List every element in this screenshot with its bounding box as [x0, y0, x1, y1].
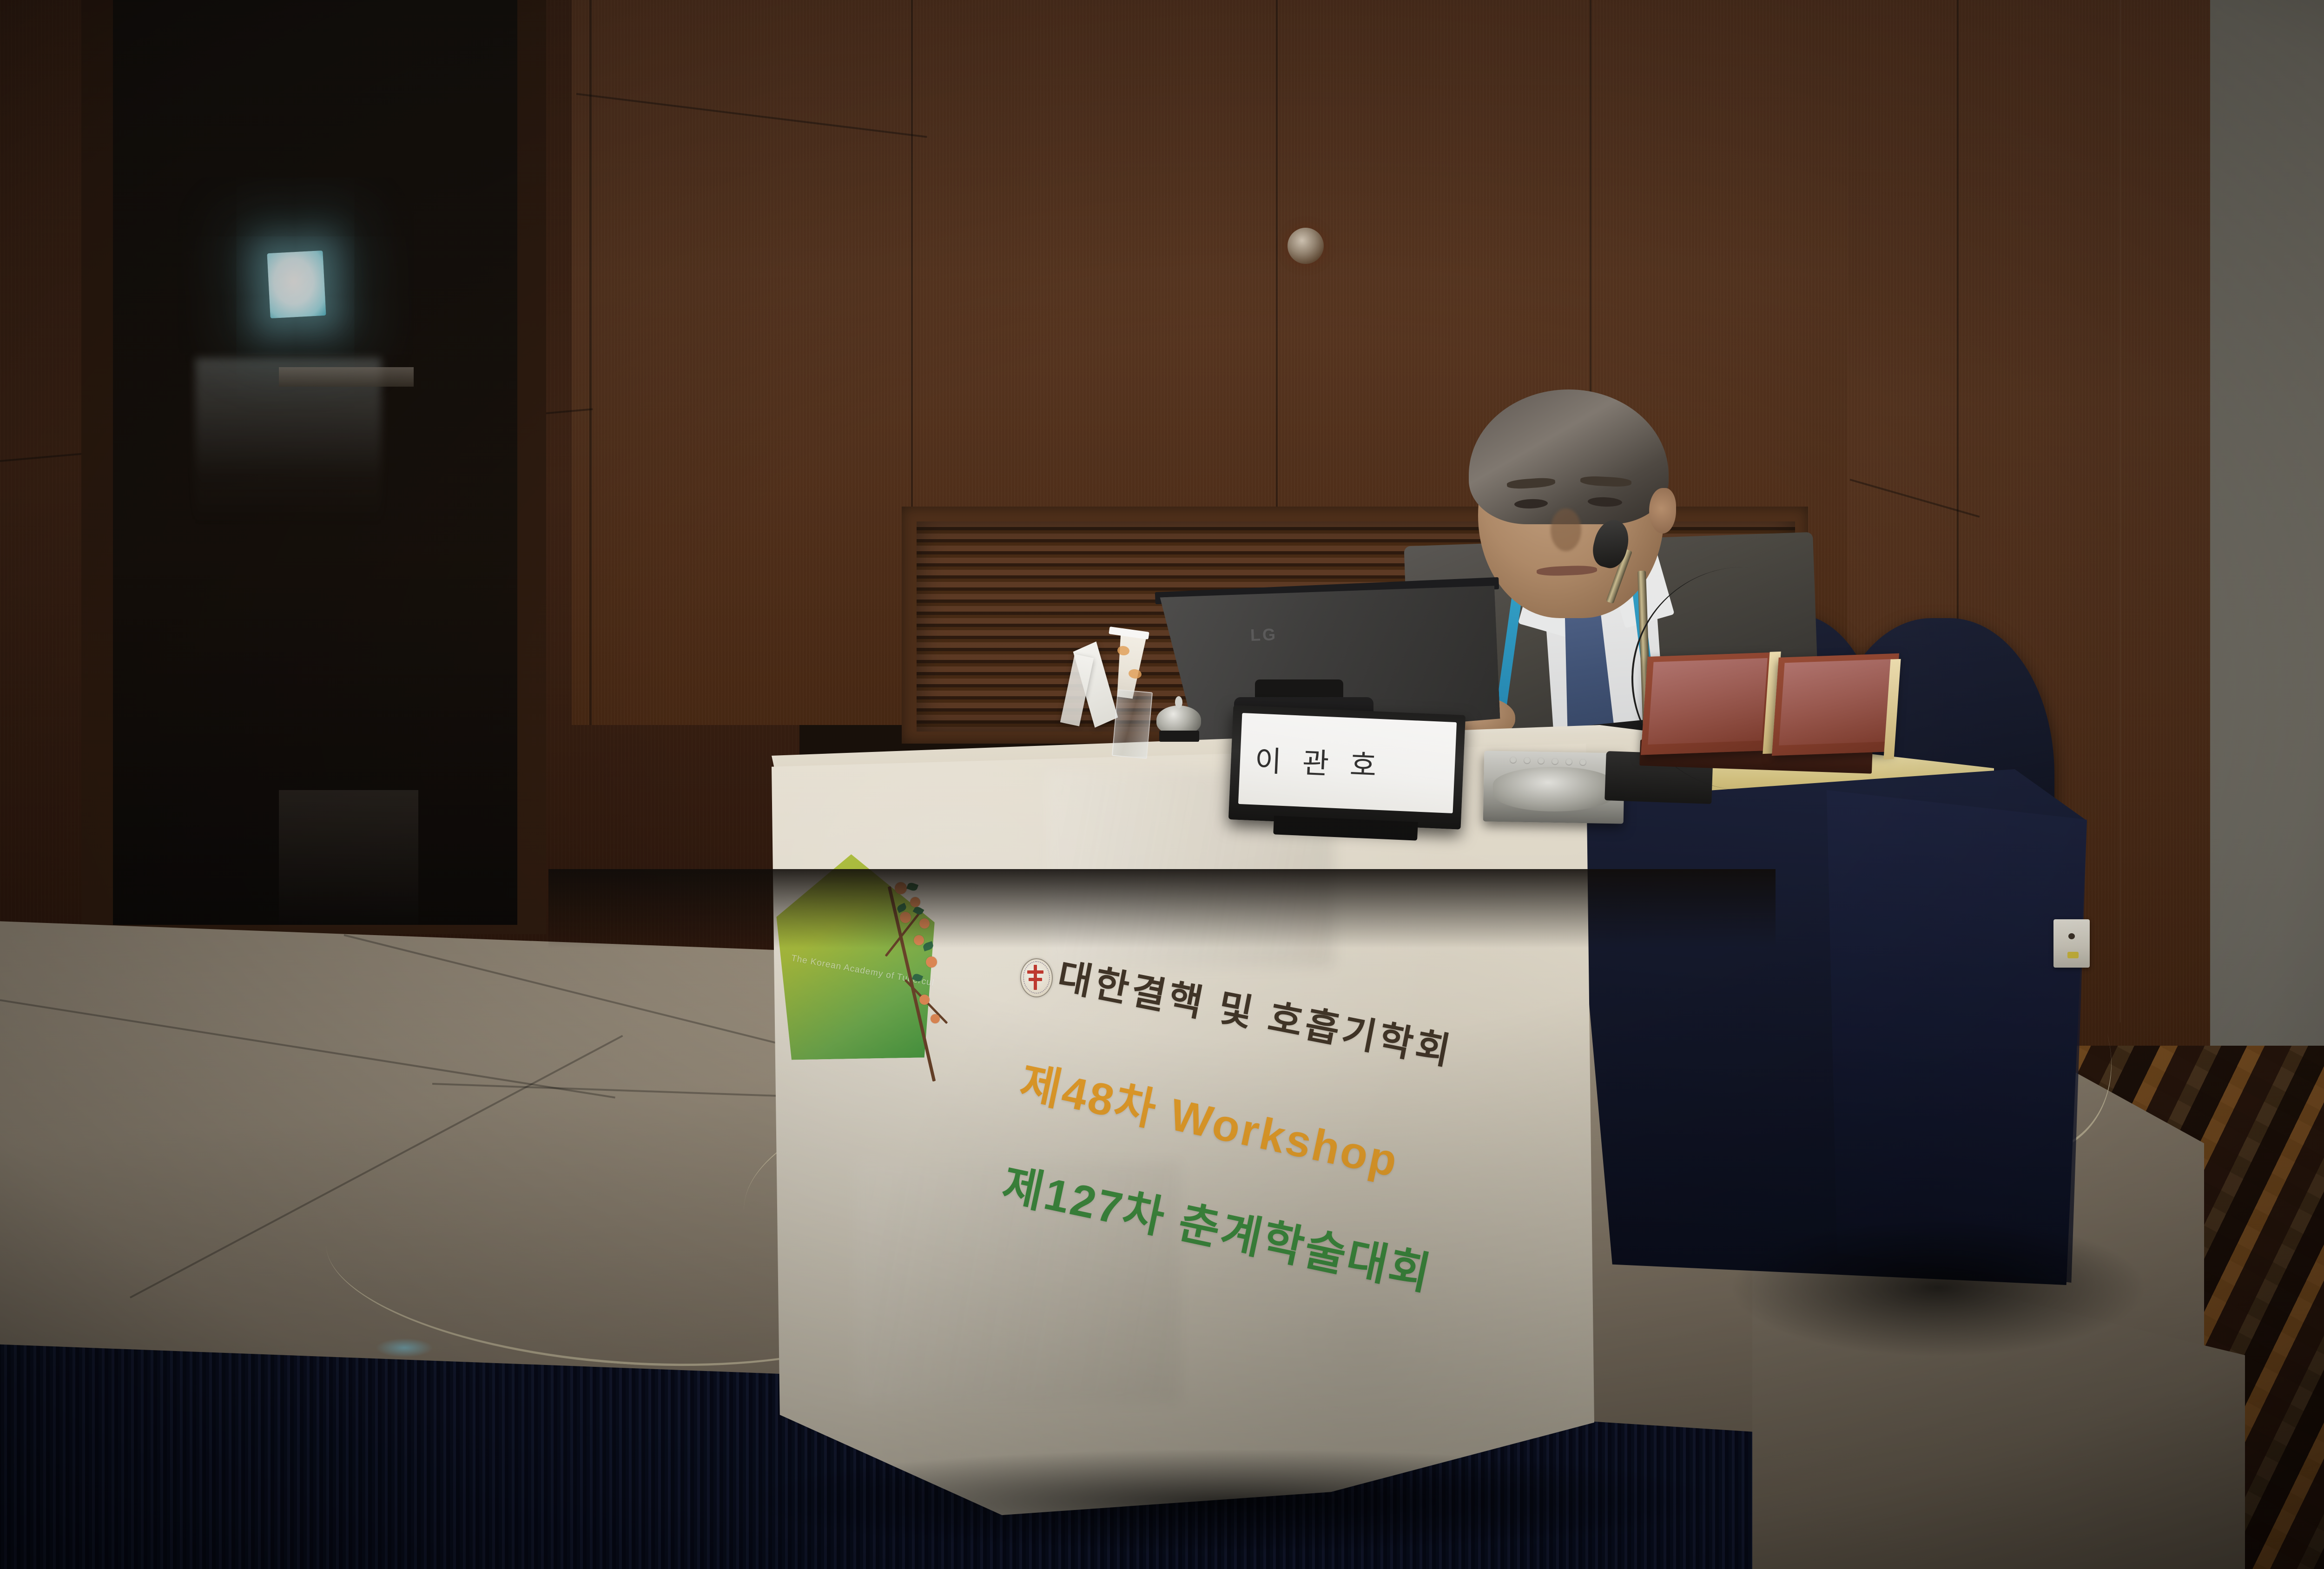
society-emblem-cross-bar-lower: [1029, 978, 1042, 981]
conference-unit-button[interactable]: [1552, 758, 1558, 765]
society-emblem-cross-bar-upper: [1027, 970, 1043, 974]
conference-unit-button[interactable]: [1524, 757, 1531, 764]
service-bell: [1156, 705, 1201, 734]
chair-shadow: [1729, 1218, 2147, 1357]
service-bell-base: [1159, 731, 1199, 742]
wall-highlight: [2119, 0, 2121, 1022]
wall-outlet-plug: [2067, 952, 2079, 958]
wall-outlet-hole: [2068, 933, 2075, 939]
ceiling-sprinkler-head-icon: [1287, 228, 1324, 264]
name-placard-text: 이 관 호: [1254, 737, 1384, 784]
award-plaque-right-face: [1779, 659, 1892, 745]
illuminated-wall-light-icon: [267, 251, 326, 318]
person-nose: [1551, 508, 1581, 551]
conference-unit-button[interactable]: [1510, 757, 1517, 764]
conference-speaker-grille: [1493, 767, 1616, 811]
wall-seam: [911, 0, 913, 572]
society-emblem-cross-vertical: [1034, 965, 1037, 990]
doorway-inner-shelf: [279, 367, 414, 387]
wall-column-right: [2210, 0, 2324, 1157]
conference-unit-button[interactable]: [1565, 758, 1572, 765]
drinking-glass: [1112, 689, 1153, 759]
wall-power-outlet: [2053, 919, 2090, 968]
conference-unit-button[interactable]: [1579, 759, 1586, 766]
wall-seam: [1276, 0, 1278, 511]
award-plaque-left-face: [1648, 658, 1768, 745]
table-skirt-right-fold: [1827, 790, 2087, 1283]
blossom-flower: [926, 956, 937, 968]
doorway-lower-glow: [279, 790, 418, 930]
blossom-flower: [919, 995, 930, 1005]
monitor-brand-logo: LG: [1250, 625, 1277, 645]
service-bell-knob: [1175, 696, 1182, 708]
table-shadow: [744, 1450, 1720, 1552]
person-ear: [1649, 488, 1676, 534]
blossom-flower: [931, 1014, 940, 1023]
cable-sparkle: [376, 1338, 432, 1357]
conference-unit-button[interactable]: [1538, 758, 1545, 765]
wall-seam: [589, 0, 592, 725]
stage-wall-gap-shadow: [548, 869, 1776, 948]
photo-scene: LG The Korean Academy of Tuberculosis an…: [0, 0, 2324, 1569]
